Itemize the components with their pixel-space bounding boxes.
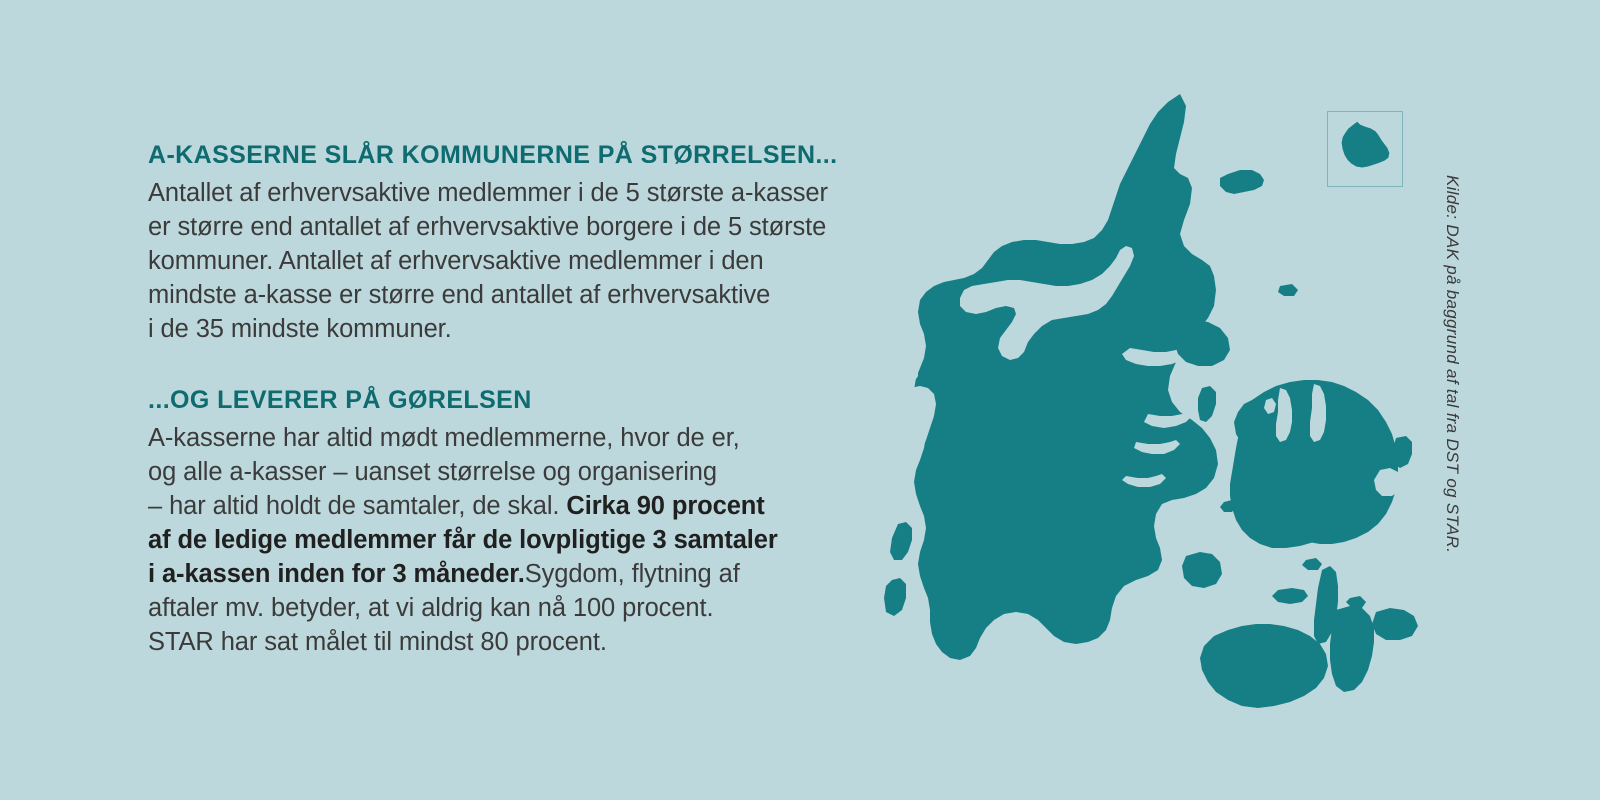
- block-2-line-7: STAR har sat målet til mindst 80 procent…: [148, 625, 908, 659]
- bornholm-island: [1342, 122, 1390, 168]
- nissum-fjord-water: [900, 364, 918, 382]
- falster-island: [1330, 606, 1374, 692]
- text-column: A-KASSERNE SLÅR KOMMUNERNE PÅ STØRRELSEN…: [148, 139, 908, 659]
- amager-island: [1392, 436, 1412, 468]
- block-1-line-4: mindste a-kasse er større end antallet a…: [148, 278, 908, 312]
- block-2-line-4: af de ledige medlemmer får de lovpligtig…: [148, 523, 908, 557]
- block-2-line-5-text: Sygdom, flytning af: [525, 560, 740, 588]
- block-2-line-1: A-kasserne har altid mødt medlemmerne, h…: [148, 421, 908, 455]
- samso-island: [1198, 386, 1216, 422]
- als-island: [1182, 552, 1222, 588]
- bornholm-inset-box: [1327, 111, 1403, 187]
- fano-island: [890, 522, 912, 560]
- block-2-line-3: – har altid holdt de samtaler, de skal. …: [148, 489, 908, 523]
- block-2-line-6: aftaler mv. betyder, at vi aldrig kan nå…: [148, 591, 908, 625]
- text-block-2: ...OG LEVERER PÅ GØRELSEN A-kasserne har…: [148, 384, 908, 659]
- block-1-body: Antallet af erhvervsaktive medlemmer i d…: [148, 176, 908, 346]
- block-2-line-3-text: – har altid holdt de samtaler, de skal.: [148, 492, 566, 520]
- infographic-page: A-KASSERNE SLÅR KOMMUNERNE PÅ STØRRELSEN…: [0, 0, 1600, 800]
- thuro-islet: [1302, 558, 1322, 570]
- highlight-phrase-part-3: i a-kassen inden for 3 måneder.: [148, 560, 525, 588]
- highlight-phrase-part-2: af de ledige medlemmer får de lovpligtig…: [148, 526, 778, 554]
- aero-island: [1272, 588, 1308, 604]
- bornholm-inset-svg: [1328, 112, 1402, 186]
- jutland-landmass: [914, 94, 1218, 660]
- bogo-islet: [1346, 596, 1366, 608]
- highlight-phrase-part-1: Cirka 90 procent: [566, 492, 764, 520]
- laeso-island: [1220, 170, 1264, 194]
- block-2-body: A-kasserne har altid mødt medlemmerne, h…: [148, 421, 908, 659]
- block-1-line-3: kommuner. Antallet af erhvervsaktive med…: [148, 244, 908, 278]
- anholt-island: [1278, 284, 1298, 296]
- block-2-line-2: og alle a-kasser – uanset størrelse og o…: [148, 455, 908, 489]
- block-2-heading: ...OG LEVERER PÅ GØRELSEN: [148, 384, 908, 416]
- block-1-heading: A-KASSERNE SLÅR KOMMUNERNE PÅ STØRRELSEN…: [148, 139, 908, 171]
- block-1-line-1: Antallet af erhvervsaktive medlemmer i d…: [148, 176, 908, 210]
- block-1-line-2: er større end antallet af erhvervsaktive…: [148, 210, 908, 244]
- block-1-line-5: i de 35 mindste kommuner.: [148, 312, 908, 346]
- lolland-island: [1200, 624, 1328, 708]
- romo-island: [884, 578, 906, 616]
- mon-island: [1372, 608, 1418, 640]
- block-2-line-5: i a-kassen inden for 3 måneder.Sygdom, f…: [148, 557, 908, 591]
- text-block-1: A-KASSERNE SLÅR KOMMUNERNE PÅ STØRRELSEN…: [148, 139, 908, 346]
